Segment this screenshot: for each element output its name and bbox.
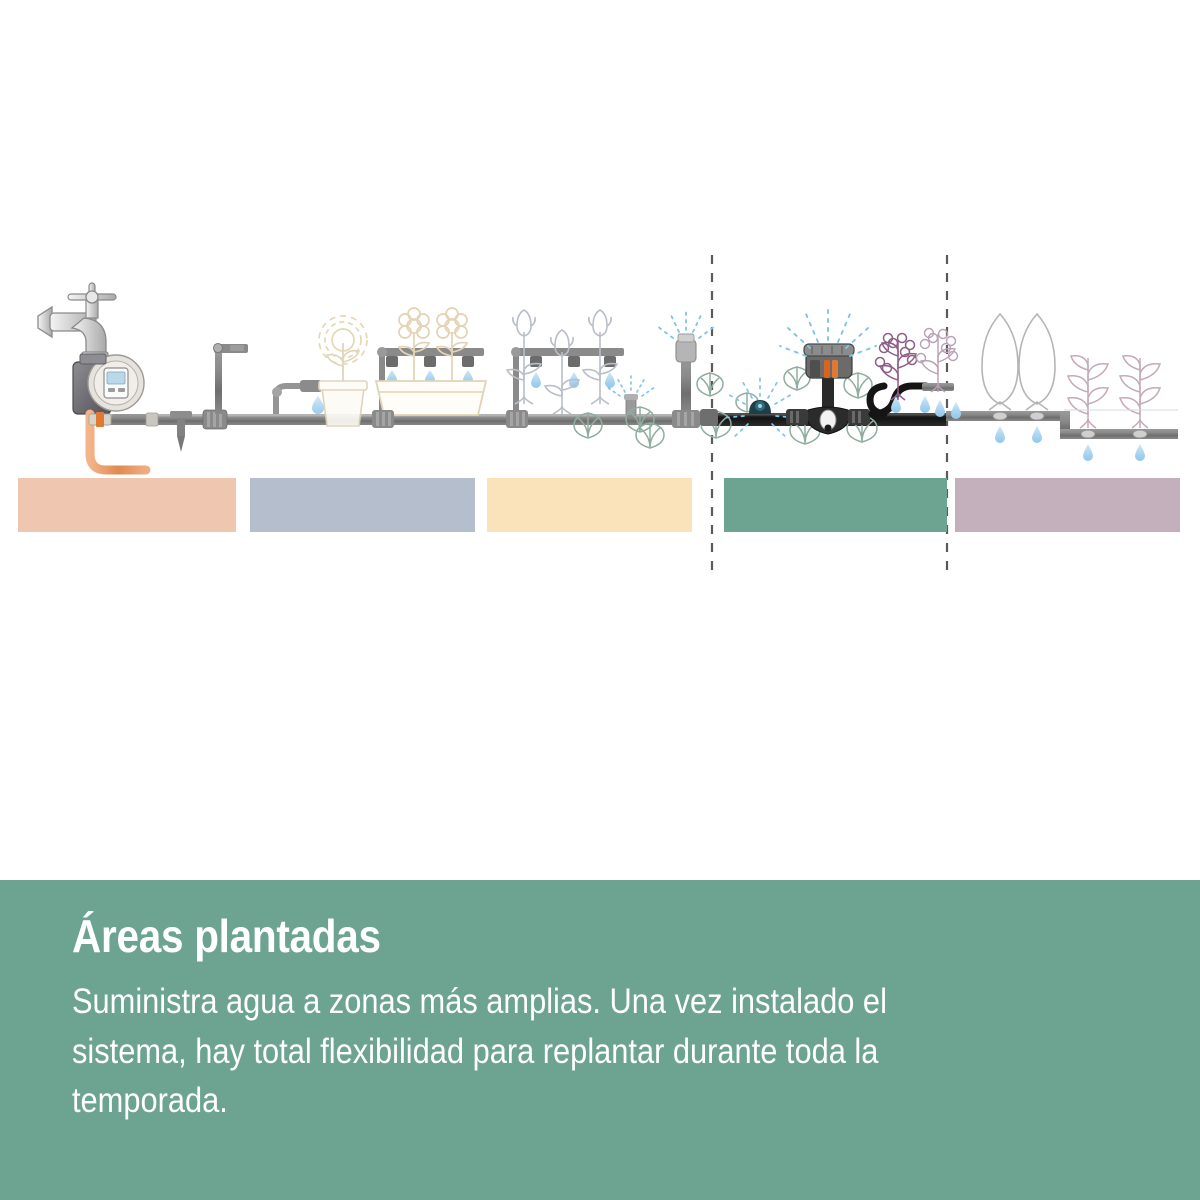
planter-flowers	[399, 308, 467, 381]
irrigation-diagram	[0, 0, 1200, 880]
zone-bar-zone-pots[interactable]	[250, 478, 475, 532]
t-joint-4	[672, 410, 700, 428]
pipe-transition-connector	[700, 409, 718, 426]
caption-title: Áreas plantadas	[72, 910, 1001, 963]
water-timer[interactable]	[73, 354, 144, 414]
quick-connector	[89, 412, 158, 427]
micro-sprinkler-left	[214, 344, 249, 415]
zone-bar-zone-planted-areas[interactable]	[724, 478, 947, 532]
cabbage-1	[574, 413, 602, 438]
conifer-topiary	[982, 314, 1055, 410]
ground-stake	[170, 411, 192, 452]
t-joint-2	[372, 410, 394, 428]
sunflower-pot	[272, 316, 367, 426]
page-root: Áreas plantadas Suministra agua a zonas …	[0, 0, 1200, 1200]
tap-faucet	[38, 283, 116, 364]
window-box-planter	[372, 308, 486, 428]
leafy-shrubs	[1064, 356, 1178, 428]
zone-bar-zone-hedges[interactable]	[955, 478, 1180, 532]
rose-bed	[506, 310, 624, 428]
zone-bar-zone-tap[interactable]	[18, 478, 236, 532]
caption-panel: Áreas plantadas Suministra agua a zonas …	[0, 880, 1200, 1200]
tap-handle-icon	[68, 283, 116, 303]
zone-bar-zone-planters[interactable]	[487, 478, 692, 532]
caption-body: Suministra agua a zonas más amplias. Una…	[72, 977, 1001, 1126]
cabbage-3	[697, 373, 723, 396]
cabbage-9	[636, 423, 664, 448]
rose-plants	[507, 310, 617, 414]
oscillating-sprinkler[interactable]	[780, 308, 876, 434]
t-joint-3	[506, 410, 528, 428]
rose-drippers	[530, 356, 616, 388]
